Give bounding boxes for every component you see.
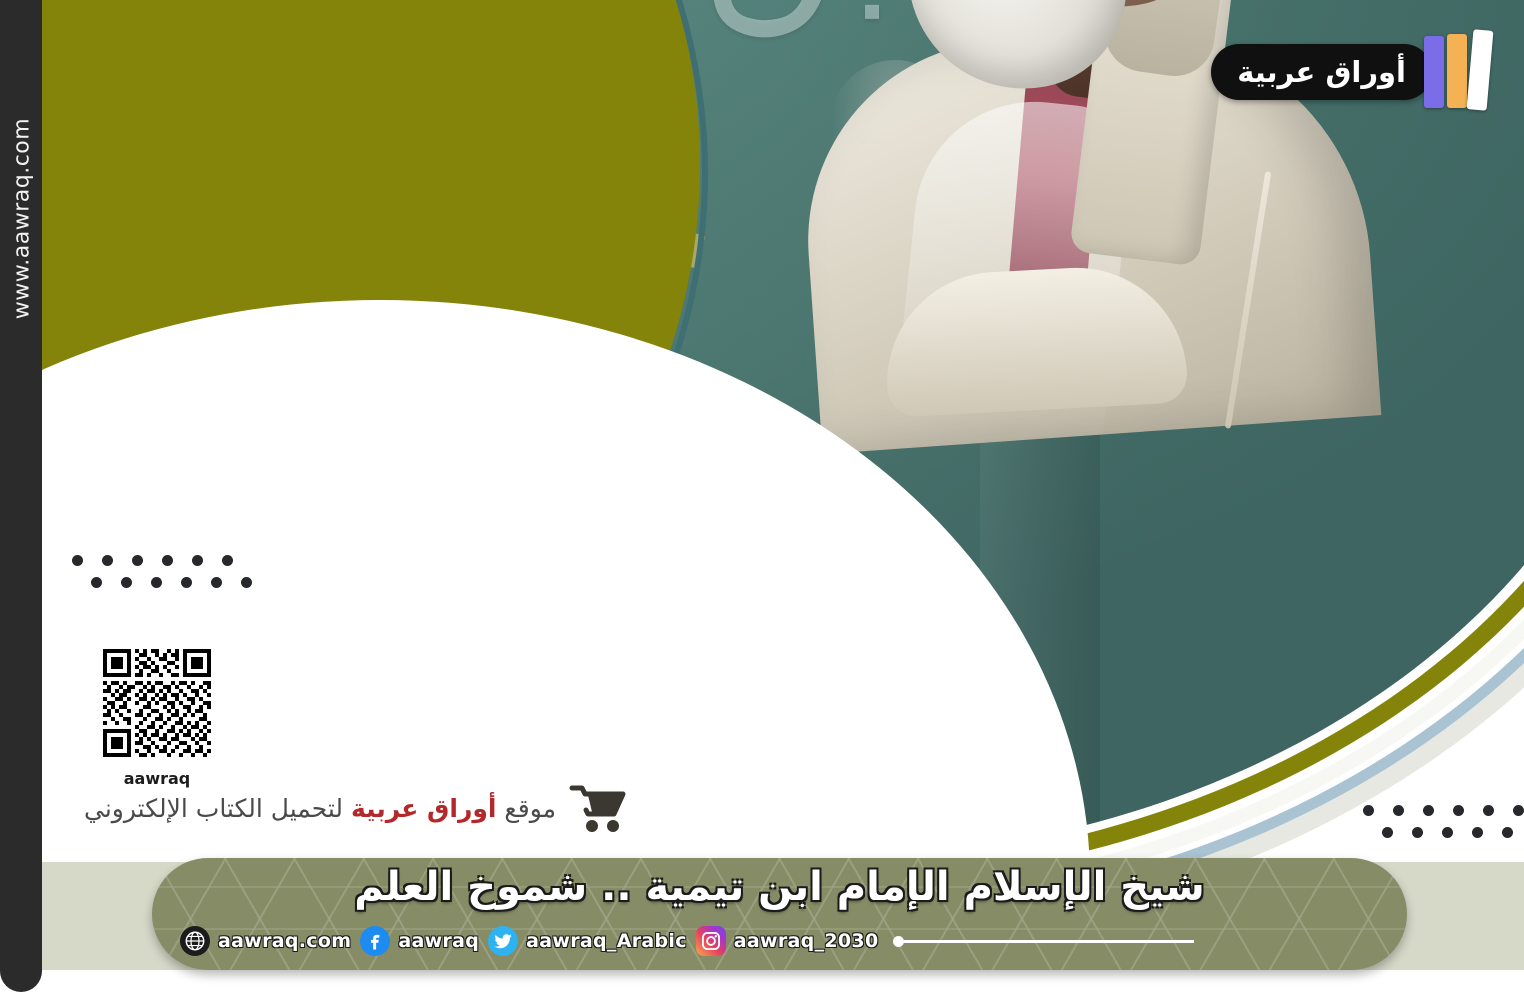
social-item-website[interactable]: aawraq.com — [180, 926, 351, 956]
social-label: aawraq_Arabic — [526, 930, 687, 952]
rule-line — [904, 940, 1194, 943]
social-label: aawraq — [398, 930, 479, 952]
dot-grid-left — [72, 555, 252, 588]
sidebar-website-url[interactable]: www.aawraq.com — [10, 69, 35, 369]
artwork-region: شيخ الإسلام بن تيمية الله — [0, 0, 1524, 862]
instagram-icon — [696, 926, 726, 956]
social-item-instagram[interactable]: aawraq_2030 — [696, 926, 879, 956]
social-item-facebook[interactable]: aawraq — [360, 926, 479, 956]
book-cover-page: شيخ الإسلام بن تيمية الله — [0, 0, 1524, 1002]
qr-block: aawraq — [99, 645, 215, 788]
title-plate: شيخ الإسلام الإمام ابن تيمية .. شموخ الع… — [152, 858, 1407, 970]
download-text: موقع أوراق عربية لتحميل الكتاب الإلكترون… — [84, 794, 556, 823]
social-item-twitter[interactable]: aawraq_Arabic — [488, 926, 687, 956]
download-prefix: موقع — [496, 794, 556, 823]
download-suffix: لتحميل الكتاب الإلكتروني — [84, 794, 351, 823]
download-line[interactable]: موقع أوراق عربية لتحميل الكتاب الإلكترون… — [84, 782, 628, 834]
download-highlight: أوراق عربية — [351, 794, 497, 823]
social-label: aawraq_2030 — [734, 930, 879, 952]
book-spine-orange — [1447, 34, 1467, 108]
globe-icon — [180, 926, 210, 956]
brand-books-icon — [1424, 30, 1502, 112]
social-row: aawraq.com aawraq aawraq_Arabic — [180, 924, 1379, 958]
book-spine-white — [1467, 29, 1494, 110]
twitter-icon — [488, 926, 518, 956]
social-rule — [893, 936, 1379, 947]
qr-code-icon — [99, 645, 215, 761]
book-spine-purple — [1424, 36, 1444, 108]
page-title: شيخ الإسلام الإمام ابن تيمية .. شموخ الع… — [152, 864, 1407, 910]
left-sidebar: www.aawraq.com — [0, 0, 42, 992]
social-label: aawraq.com — [218, 930, 351, 952]
brand-badge-label: أوراق عربية — [1237, 55, 1406, 89]
dot-grid-right — [1363, 805, 1524, 838]
shopping-cart-icon — [568, 782, 628, 834]
facebook-icon — [360, 926, 390, 956]
brand-badge[interactable]: أوراق عربية — [1211, 44, 1432, 100]
rule-knob — [893, 936, 904, 947]
